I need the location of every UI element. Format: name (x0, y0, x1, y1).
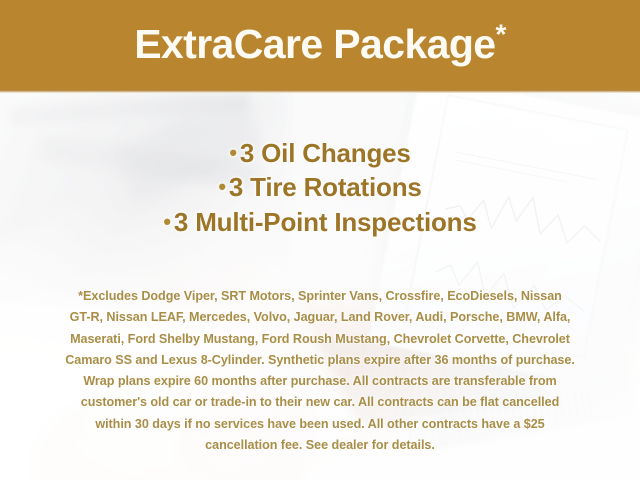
header-band: ExtraCare Package* (0, 0, 640, 93)
disclaimer-text: *Excludes Dodge Viper, SRT Motors, Sprin… (0, 286, 640, 456)
extracare-promo-card: ExtraCare Package* •3 Oil Changes •3 Tir… (0, 0, 640, 480)
bullet-icon: • (218, 174, 229, 199)
list-item: •3 Tire Rotations (0, 170, 640, 204)
disclaimer-line: cancellation fee. See dealer for details… (14, 435, 626, 456)
disclaimer-line: *Excludes Dodge Viper, SRT Motors, Sprin… (14, 286, 626, 307)
bullet-icon: • (229, 140, 240, 165)
disclaimer-line: customer's old car or trade-in to their … (14, 392, 626, 413)
page-title: ExtraCare Package* (134, 24, 506, 69)
list-item: •3 Multi-Point Inspections (0, 205, 640, 239)
benefits-list: •3 Oil Changes •3 Tire Rotations •3 Mult… (0, 136, 640, 239)
disclaimer-line: Wrap plans expire 60 months after purcha… (14, 371, 626, 392)
disclaimer-line: GT-R, Nissan LEAF, Mercedes, Volvo, Jagu… (14, 307, 626, 328)
title-asterisk: * (496, 18, 506, 49)
list-item: •3 Oil Changes (0, 136, 640, 170)
disclaimer-line: Camaro SS and Lexus 8-Cylinder. Syntheti… (14, 350, 626, 371)
list-item-label: 3 Tire Rotations (229, 172, 422, 202)
disclaimer-line: Maserati, Ford Shelby Mustang, Ford Rous… (14, 329, 626, 350)
bullet-icon: • (163, 209, 174, 234)
list-item-label: 3 Multi-Point Inspections (174, 207, 477, 237)
disclaimer-line: within 30 days if no services have been … (14, 414, 626, 435)
list-item-label: 3 Oil Changes (240, 138, 411, 168)
page-title-text: ExtraCare Package (134, 21, 495, 67)
